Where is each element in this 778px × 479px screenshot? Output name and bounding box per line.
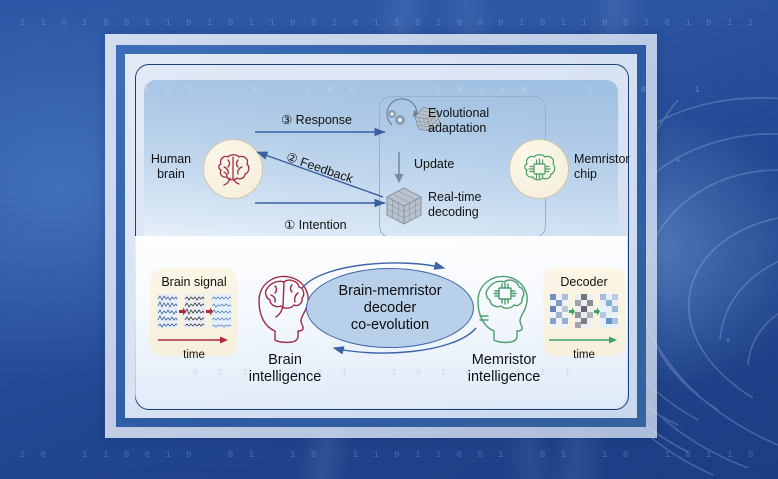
intention-arrow-label: ① Intention (284, 218, 347, 233)
response-arrow-label: ③ Response (281, 113, 352, 128)
decoder-time-arrow (549, 336, 619, 345)
decoder-pill: Decoder (543, 268, 625, 356)
realtime-decoding-label: Real-time decoding (428, 190, 520, 219)
brain-signal-pill: Brain signal (150, 268, 238, 356)
evolutional-adaptation-label: Evolutional adaptation (428, 106, 520, 135)
head-chip-icon (466, 271, 540, 347)
human-brain-label: Human brain (140, 152, 202, 181)
cube-icon (385, 186, 427, 226)
weight-matrix-icon (549, 294, 619, 334)
brain-signal-time-label: time (150, 349, 238, 361)
decoder-time-label: time (543, 349, 625, 361)
eeg-waveform-icon (156, 294, 232, 334)
human-brain-circle (203, 139, 263, 199)
decoder-title: Decoder (543, 275, 625, 289)
memristor-chip-label: Memristor chip (574, 152, 654, 181)
brain-signal-title: Brain signal (150, 275, 238, 289)
update-label: Update (414, 157, 454, 172)
background-binary-text-bottom: 1 0 1 1 0 0 1 0 0 1 1 0 1 1 0 1 1 0 0 1 … (0, 440, 778, 479)
brain-chip-icon (517, 148, 561, 190)
figure-canvas: 1 1 0 1 0 0 1 1 0 1 0 1 1 0 0 1 0 1 1 0 … (0, 0, 778, 479)
co-evolution-label: Brain-memristor decoder co-evolution (338, 283, 441, 334)
top-panel-binary-text: 1 0 1 0 1 0 0 1 0 1 0 0 1 0 1 (144, 86, 618, 95)
brain-icon (212, 148, 254, 190)
down-arrow-icon (392, 152, 408, 184)
brain-signal-time-arrow (158, 336, 230, 345)
co-evolution-ellipse: Brain-memristor decoder co-evolution (306, 268, 474, 348)
